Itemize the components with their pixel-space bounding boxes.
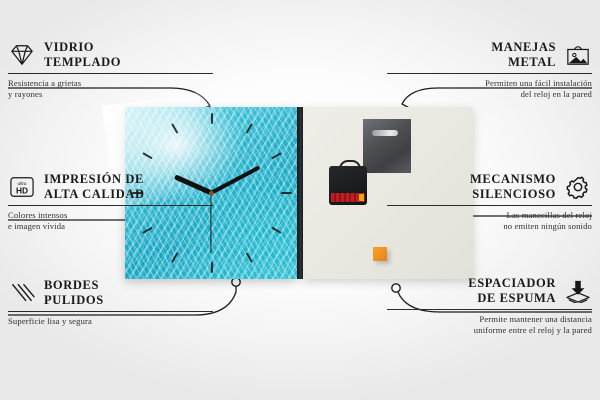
foam-spacer-icon	[564, 279, 592, 303]
clock-minute-hand	[210, 165, 260, 194]
ultra-hd-icon: ultra HD	[8, 175, 36, 199]
title-divider	[8, 73, 213, 74]
feature-description: Superficie lisa y segura	[8, 316, 213, 327]
feature-title: MECANISMO SILENCIOSO	[470, 172, 556, 202]
feature-title: VIDRIO TEMPLADO	[44, 40, 121, 70]
feature-print: ultra HD IMPRESIÓN DE ALTA CALIDAD Color…	[8, 172, 213, 232]
battery-compartment	[331, 193, 365, 202]
feature-spacer: ESPACIADOR DE ESPUMA Permite mantener un…	[387, 276, 592, 336]
feature-description: Las manecillas del reloj no emiten ningú…	[387, 210, 592, 233]
feature-title: ESPACIADOR DE ESPUMA	[468, 276, 556, 306]
infographic-canvas: VIDRIO TEMPLADO Resistencia a grietas y …	[0, 0, 600, 400]
title-divider	[8, 205, 213, 206]
clock-mechanism-box	[329, 166, 367, 205]
feature-hangers: MANEJAS METAL Permiten una fácil instala…	[387, 40, 592, 100]
feature-description: Permite mantener una distancia uniforme …	[387, 314, 592, 337]
metal-hanger-plate	[363, 119, 411, 173]
feature-description: Colores intensos e imagen vívida	[8, 210, 213, 233]
feature-title: MANEJAS METAL	[491, 40, 556, 70]
feature-glass: VIDRIO TEMPLADO Resistencia a grietas y …	[8, 40, 213, 100]
mechanism-hook	[339, 160, 361, 171]
foam-spacer-pad	[373, 247, 387, 261]
feature-description: Resistencia a grietas y rayones	[8, 78, 213, 101]
svg-text:HD: HD	[16, 185, 28, 195]
title-divider	[8, 311, 213, 312]
polished-edges-icon	[8, 281, 36, 305]
picture-hanger-icon	[564, 43, 592, 67]
title-divider	[387, 205, 592, 206]
title-divider	[387, 73, 592, 74]
gear-icon	[564, 175, 592, 199]
feature-description: Permiten una fácil instalación del reloj…	[387, 78, 592, 101]
title-divider	[387, 309, 592, 310]
feature-title: BORDES PULIDOS	[44, 278, 104, 308]
feature-mechanism: MECANISMO SILENCIOSO Las manecillas del …	[387, 172, 592, 232]
feature-edges: BORDES PULIDOS Superficie lisa y segura	[8, 278, 213, 327]
hanger-slot	[372, 130, 398, 136]
feature-title: IMPRESIÓN DE ALTA CALIDAD	[44, 172, 145, 202]
diamond-icon	[8, 43, 36, 67]
